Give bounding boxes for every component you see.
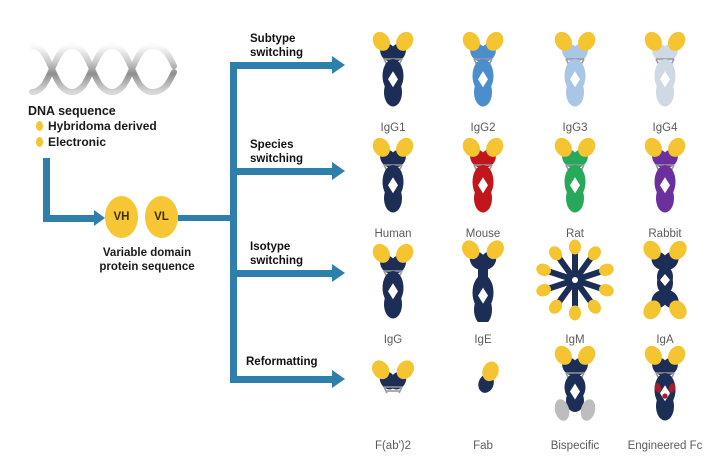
- branch-label-isotype: Isotype switching: [250, 241, 303, 268]
- antibody-cell-bispecific: Bispecific: [532, 344, 618, 452]
- antibody-y-icon: [622, 26, 708, 110]
- connector-horizontal-dna: [43, 215, 95, 222]
- bullet-dot-icon: [36, 137, 43, 147]
- antibody-grid: IgG1 IgG2: [350, 26, 706, 446]
- vl-domain: VL: [145, 196, 178, 238]
- arrow-head-icon: [332, 370, 345, 388]
- antibody-y-icon: [440, 132, 526, 216]
- antibody-label: Bispecific: [532, 440, 618, 452]
- antibody-cell-igg4: IgG4: [622, 26, 708, 134]
- antibody-cell-igm: IgM: [532, 238, 618, 346]
- list-item-electronic: Electronic: [36, 136, 106, 148]
- antibody-bispecific-icon: [532, 344, 618, 428]
- list-item-label: Hybridoma derived: [48, 120, 157, 132]
- arrow-head-icon: [332, 56, 345, 74]
- branch-label-line2: switching: [250, 255, 303, 269]
- branch-label-line1: Reformatting: [246, 356, 318, 370]
- antibody-fab2-icon: [350, 344, 436, 428]
- dna-sequence-title: DNA sequence: [28, 104, 116, 118]
- branch-arm-species: [233, 168, 333, 175]
- antibody-label: Engineered Fc: [622, 440, 708, 452]
- antibody-igm-icon: [532, 238, 618, 322]
- branch-label-species: Species switching: [250, 139, 303, 166]
- antibody-cell-human: Human: [350, 132, 436, 240]
- branch-arm-reformatting: [233, 376, 333, 383]
- branch-label-reformatting: Reformatting: [246, 356, 318, 370]
- bullet-dot-icon: [36, 121, 43, 131]
- branch-label-subtype: Subtype switching: [250, 33, 303, 60]
- antibody-cell-f-ab-2: F(ab')2: [350, 344, 436, 452]
- antibody-y-icon: [350, 26, 436, 110]
- antibody-cell-mouse: Mouse: [440, 132, 526, 240]
- antibody-cell-rabbit: Rabbit: [622, 132, 708, 240]
- antibody-ige-icon: [440, 238, 526, 322]
- variable-domain-caption-line1: Variable domain: [82, 246, 212, 260]
- branch-label-line1: Species: [250, 139, 303, 153]
- antibody-cell-igg3: IgG3: [532, 26, 618, 134]
- branch-spine: [230, 62, 237, 383]
- arrow-head-icon: [332, 264, 345, 282]
- list-item-label: Electronic: [48, 136, 106, 148]
- variable-domain-caption: Variable domain protein sequence: [82, 246, 212, 274]
- antibody-label: Fab: [440, 440, 526, 452]
- arrow-head-icon: [332, 162, 345, 180]
- antibody-y-icon: [350, 238, 436, 322]
- variable-domain-caption-line2: protein sequence: [82, 260, 212, 274]
- antibody-cell-engineered-fc: Engineered Fc: [622, 344, 708, 452]
- antibody-cell-igg1: IgG1: [350, 26, 436, 134]
- arrow-head-icon: [94, 210, 105, 226]
- antibody-y-icon: [622, 132, 708, 216]
- antibody-engineered-icon: [622, 344, 708, 428]
- antibody-cell-igg: IgG: [350, 238, 436, 346]
- branch-label-line1: Isotype: [250, 241, 303, 255]
- connector-to-spine: [178, 215, 236, 221]
- antibody-y-icon: [350, 132, 436, 216]
- branch-label-line1: Subtype: [250, 33, 303, 47]
- vh-domain: VH: [105, 196, 138, 238]
- antibody-y-icon: [532, 132, 618, 216]
- antibody-cell-igg2: IgG2: [440, 26, 526, 134]
- dna-double-helix-icon: [28, 36, 178, 102]
- antibody-iga-icon: [622, 238, 708, 322]
- antibody-cell-ige: IgE: [440, 238, 526, 346]
- antibody-cell-rat: Rat: [532, 132, 618, 240]
- antibody-label: F(ab')2: [350, 440, 436, 452]
- antibody-cell-fab: Fab: [440, 344, 526, 452]
- antibody-y-icon: [532, 26, 618, 110]
- antibody-fab-icon: [440, 344, 526, 428]
- branch-label-line2: switching: [250, 47, 303, 61]
- branch-arm-isotype: [233, 270, 333, 277]
- antibody-y-icon: [440, 26, 526, 110]
- list-item-hybridoma: Hybridoma derived: [36, 120, 157, 132]
- branch-label-line2: switching: [250, 153, 303, 167]
- branch-arm-subtype: [233, 62, 333, 69]
- connector-vertical-dna: [43, 158, 50, 222]
- antibody-cell-iga: IgA: [622, 238, 708, 346]
